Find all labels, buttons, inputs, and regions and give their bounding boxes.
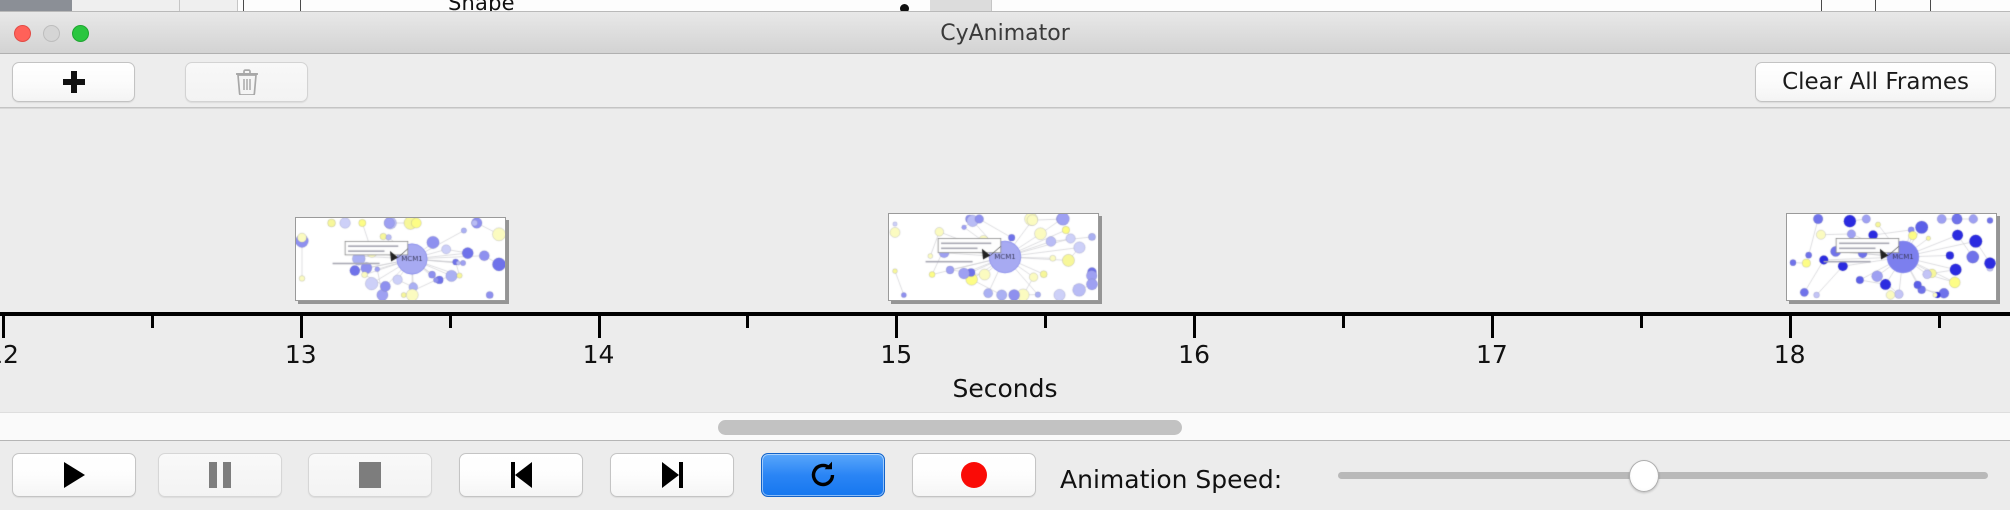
window-title: CyAnimator bbox=[0, 21, 2010, 46]
frame-toolbar: Clear All Frames bbox=[0, 54, 2010, 108]
frame-thumbnail-2[interactable] bbox=[888, 213, 1099, 301]
axis-tick-label: 14 bbox=[583, 340, 615, 369]
delete-frame-button[interactable] bbox=[185, 62, 308, 102]
scrollbar-thumb[interactable] bbox=[718, 420, 1182, 435]
loop-icon bbox=[808, 460, 838, 490]
frame-thumbnail-3[interactable] bbox=[1786, 213, 1997, 301]
background-window-strip: Shape bbox=[0, 0, 2010, 12]
axis-major-tick bbox=[1491, 316, 1494, 338]
axis-title: Seconds bbox=[0, 374, 2010, 403]
add-frame-button[interactable] bbox=[12, 62, 135, 102]
slider-thumb[interactable] bbox=[1629, 460, 1659, 492]
clear-all-frames-button[interactable]: Clear All Frames bbox=[1755, 62, 1996, 102]
record-button[interactable] bbox=[912, 453, 1036, 497]
animation-speed-slider[interactable] bbox=[1338, 453, 1988, 497]
axis-minor-tick bbox=[1044, 316, 1047, 328]
background-window-label: Shape bbox=[448, 0, 515, 12]
play-icon bbox=[64, 462, 85, 488]
axis-minor-tick bbox=[1938, 316, 1941, 328]
skip-forward-icon bbox=[662, 462, 683, 488]
trash-icon bbox=[236, 69, 258, 95]
plus-icon bbox=[62, 70, 86, 94]
axis-major-tick bbox=[598, 316, 601, 338]
stop-icon bbox=[359, 462, 381, 488]
axis-major-tick bbox=[1193, 316, 1196, 338]
axis-tick-label: 13 bbox=[285, 340, 317, 369]
axis-tick-label: 18 bbox=[1774, 340, 1806, 369]
axis-minor-tick bbox=[449, 316, 452, 328]
previous-frame-button[interactable] bbox=[459, 453, 583, 497]
record-icon bbox=[961, 462, 987, 488]
axis-tick-label: 12 bbox=[0, 340, 19, 369]
axis-major-tick bbox=[1789, 316, 1792, 338]
playback-toolbar: Animation Speed: bbox=[0, 441, 2010, 510]
axis-minor-tick bbox=[151, 316, 154, 328]
axis-minor-tick bbox=[1342, 316, 1345, 328]
timeline-track[interactable] bbox=[0, 108, 2010, 316]
pause-button[interactable] bbox=[158, 453, 282, 497]
axis-major-tick bbox=[300, 316, 303, 338]
timeline-scrollbar[interactable] bbox=[0, 412, 2010, 441]
slider-track[interactable] bbox=[1338, 472, 1988, 479]
axis-tick-label: 15 bbox=[880, 340, 912, 369]
axis-minor-tick bbox=[1640, 316, 1643, 328]
play-button[interactable] bbox=[12, 453, 136, 497]
frame-thumbnail-1[interactable] bbox=[295, 217, 506, 301]
loop-button[interactable] bbox=[761, 453, 885, 497]
stop-button[interactable] bbox=[308, 453, 432, 497]
axis-major-tick bbox=[2, 316, 5, 338]
cyanimator-window: Shape CyAnimator Clear All Frames bbox=[0, 0, 2010, 510]
axis-minor-tick bbox=[746, 316, 749, 328]
animation-speed-label: Animation Speed: bbox=[1060, 465, 1282, 494]
pause-icon bbox=[209, 462, 231, 488]
title-bar: CyAnimator bbox=[0, 12, 2010, 54]
next-frame-button[interactable] bbox=[610, 453, 734, 497]
skip-back-icon bbox=[511, 462, 532, 488]
axis-major-tick bbox=[895, 316, 898, 338]
timeline-axis: 12131415161718 Seconds bbox=[0, 316, 2010, 412]
axis-tick-label: 16 bbox=[1178, 340, 1210, 369]
axis-tick-label: 17 bbox=[1476, 340, 1508, 369]
